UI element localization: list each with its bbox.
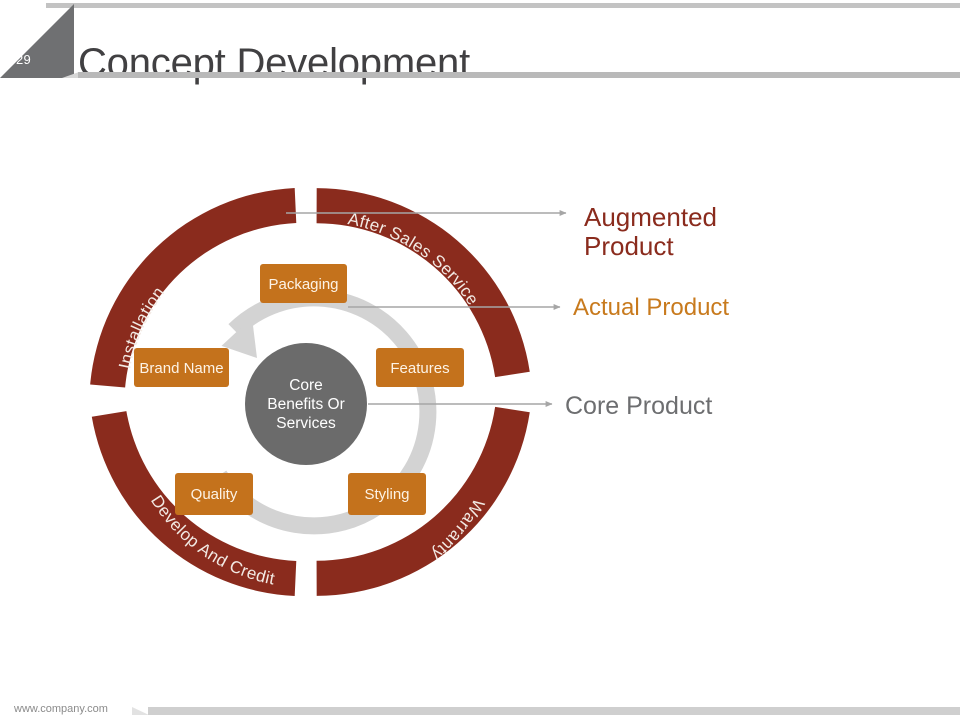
node-box-styling[interactable]: Styling	[348, 473, 426, 515]
node-box-quality-label: Quality	[191, 486, 238, 503]
footer-bar-bevel	[132, 707, 149, 715]
page-title: Concept Development	[78, 41, 470, 86]
core-line-1: Core	[289, 377, 323, 394]
header-rule	[78, 72, 960, 78]
core-line-2: Benefits Or	[267, 396, 345, 413]
footer-url[interactable]: www.company.com	[14, 703, 108, 715]
legend-actual-product: Actual Product	[573, 295, 729, 322]
node-box-packaging[interactable]: Packaging	[260, 264, 347, 303]
legend-augmented-product-line2: Product	[584, 232, 717, 261]
node-box-features[interactable]: Features	[376, 348, 464, 387]
page-number: 29	[16, 52, 31, 67]
node-box-brand-name[interactable]: Brand Name	[134, 348, 229, 387]
legend-augmented-product-line1: Augmented	[584, 203, 717, 232]
node-box-brand-name-label: Brand Name	[139, 360, 223, 377]
core-circle[interactable]: Core Benefits Or Services	[245, 343, 367, 465]
node-box-packaging-label: Packaging	[268, 276, 338, 293]
legend-core-product: Core Product	[565, 392, 712, 420]
concept-development-diagram: Installation After Sales Service Warrant…	[80, 178, 540, 634]
page-number-triangle	[0, 4, 74, 78]
legend-augmented-product: Augmented Product	[584, 203, 717, 261]
header-rule-bevel	[62, 72, 79, 78]
node-box-styling-label: Styling	[364, 486, 409, 503]
top-rule	[46, 3, 960, 8]
footer-bar	[148, 707, 960, 715]
core-line-3: Services	[276, 415, 336, 432]
node-box-quality[interactable]: Quality	[175, 473, 253, 515]
node-box-features-label: Features	[390, 360, 449, 377]
